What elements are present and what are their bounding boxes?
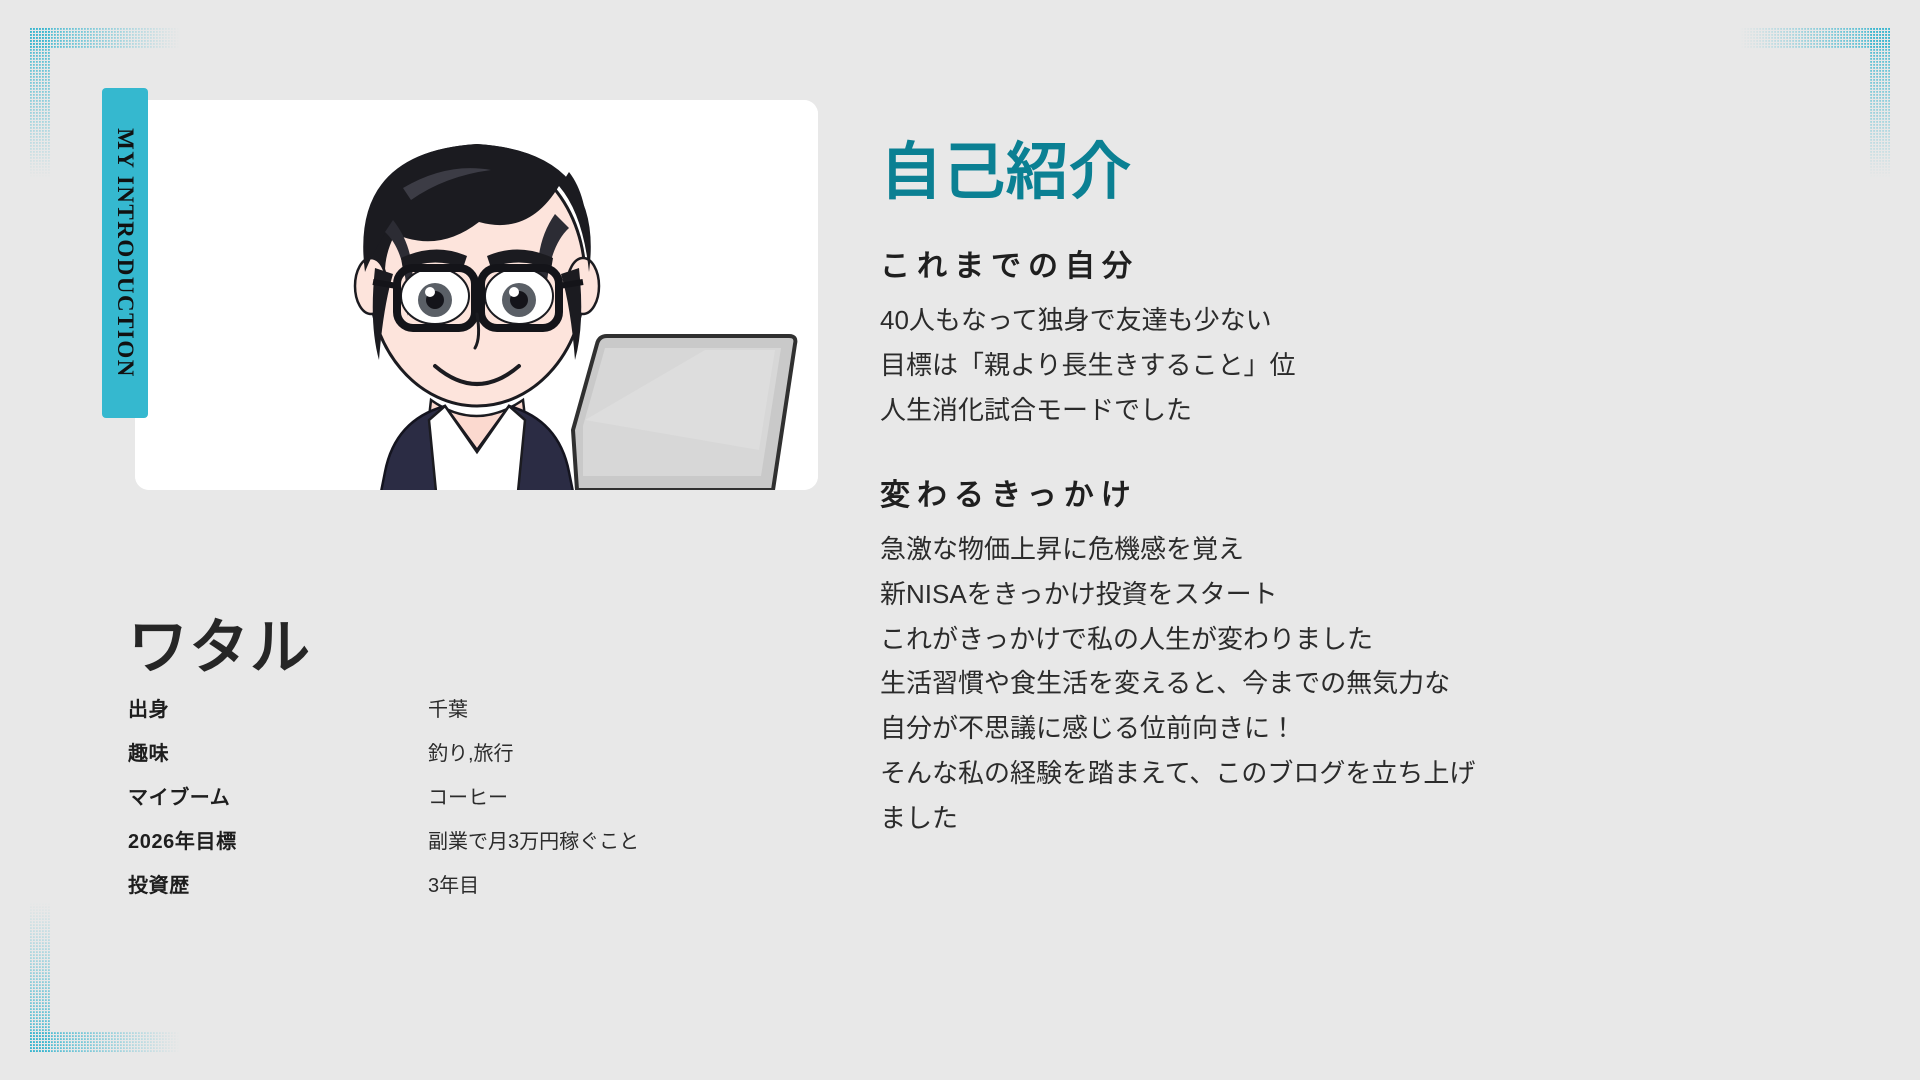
my-introduction-badge: MY INTRODUCTION (102, 88, 148, 418)
avatar-card-wrapper: MY INTRODUCTION (135, 100, 818, 490)
table-row: 出身 千葉 (128, 700, 639, 744)
profile-value-goal: 副業で月3万円稼ぐこと (428, 832, 639, 876)
body-line: 生活習慣や食生活を変えると、今までの無気力な (880, 661, 1680, 706)
body-line: これがきっかけで私の人生が変わりました (880, 617, 1680, 662)
body-line: 自分が不思議に感じる位前向きに！ (880, 706, 1680, 751)
profile-value-myboom: コーヒー (428, 788, 639, 832)
left-column: MY INTRODUCTION ワタル 出身 千葉 趣味 釣り,旅行 マイブーム (0, 0, 880, 920)
profile-value-investment: 3年目 (428, 876, 639, 920)
body-line: ました (880, 796, 1680, 841)
profile-details-table: 出身 千葉 趣味 釣り,旅行 マイブーム コーヒー 2026年目標 副業で月3万… (128, 700, 639, 920)
person-name: ワタル (128, 618, 880, 678)
body-line: 新NISAをきっかけ投資をスタート (880, 572, 1680, 617)
table-row: 趣味 釣り,旅行 (128, 744, 639, 788)
avatar-card (135, 100, 818, 490)
subheading-past-self: これまでの自分 (880, 247, 1850, 286)
body-text-turning-point: 急激な物価上昇に危機感を覚え 新NISAをきっかけ投資をスタート これがきっかけ… (880, 527, 1680, 840)
profile-name-block: ワタル 出身 千葉 趣味 釣り,旅行 マイブーム コーヒー (128, 618, 880, 920)
body-line: 40人もなって独身で友達も少ない (880, 298, 1680, 343)
profile-key-origin: 出身 (128, 700, 428, 744)
profile-layout: MY INTRODUCTION ワタル 出身 千葉 趣味 釣り,旅行 マイブーム (0, 0, 1920, 1080)
subheading-turning-point: 変わるきっかけ (880, 476, 1850, 515)
avatar-illustration-icon (135, 100, 818, 490)
right-column: 自己紹介 これまでの自分 40人もなって独身で友達も少ない 目標は「親より長生き… (880, 0, 1920, 884)
body-line: 急激な物価上昇に危機感を覚え (880, 527, 1680, 572)
body-text-past-self: 40人もなって独身で友達も少ない 目標は「親より長生きすること」位 人生消化試合… (880, 298, 1680, 432)
profile-key-investment: 投資歴 (128, 876, 428, 920)
profile-key-hobby: 趣味 (128, 744, 428, 788)
body-line: そんな私の経験を踏まえて、このブログを立ち上げ (880, 751, 1680, 796)
profile-value-origin: 千葉 (428, 700, 639, 744)
body-line: 人生消化試合モードでした (880, 388, 1680, 433)
profile-value-hobby: 釣り,旅行 (428, 744, 639, 788)
my-introduction-badge-label: MY INTRODUCTION (112, 128, 138, 378)
table-row: マイブーム コーヒー (128, 788, 639, 832)
table-row: 2026年目標 副業で月3万円稼ぐこと (128, 832, 639, 876)
body-line: 目標は「親より長生きすること」位 (880, 343, 1680, 388)
profile-key-goal: 2026年目標 (128, 832, 428, 876)
profile-key-myboom: マイブーム (128, 788, 428, 832)
page-title: 自己紹介 (880, 140, 1850, 205)
table-row: 投資歴 3年目 (128, 876, 639, 920)
